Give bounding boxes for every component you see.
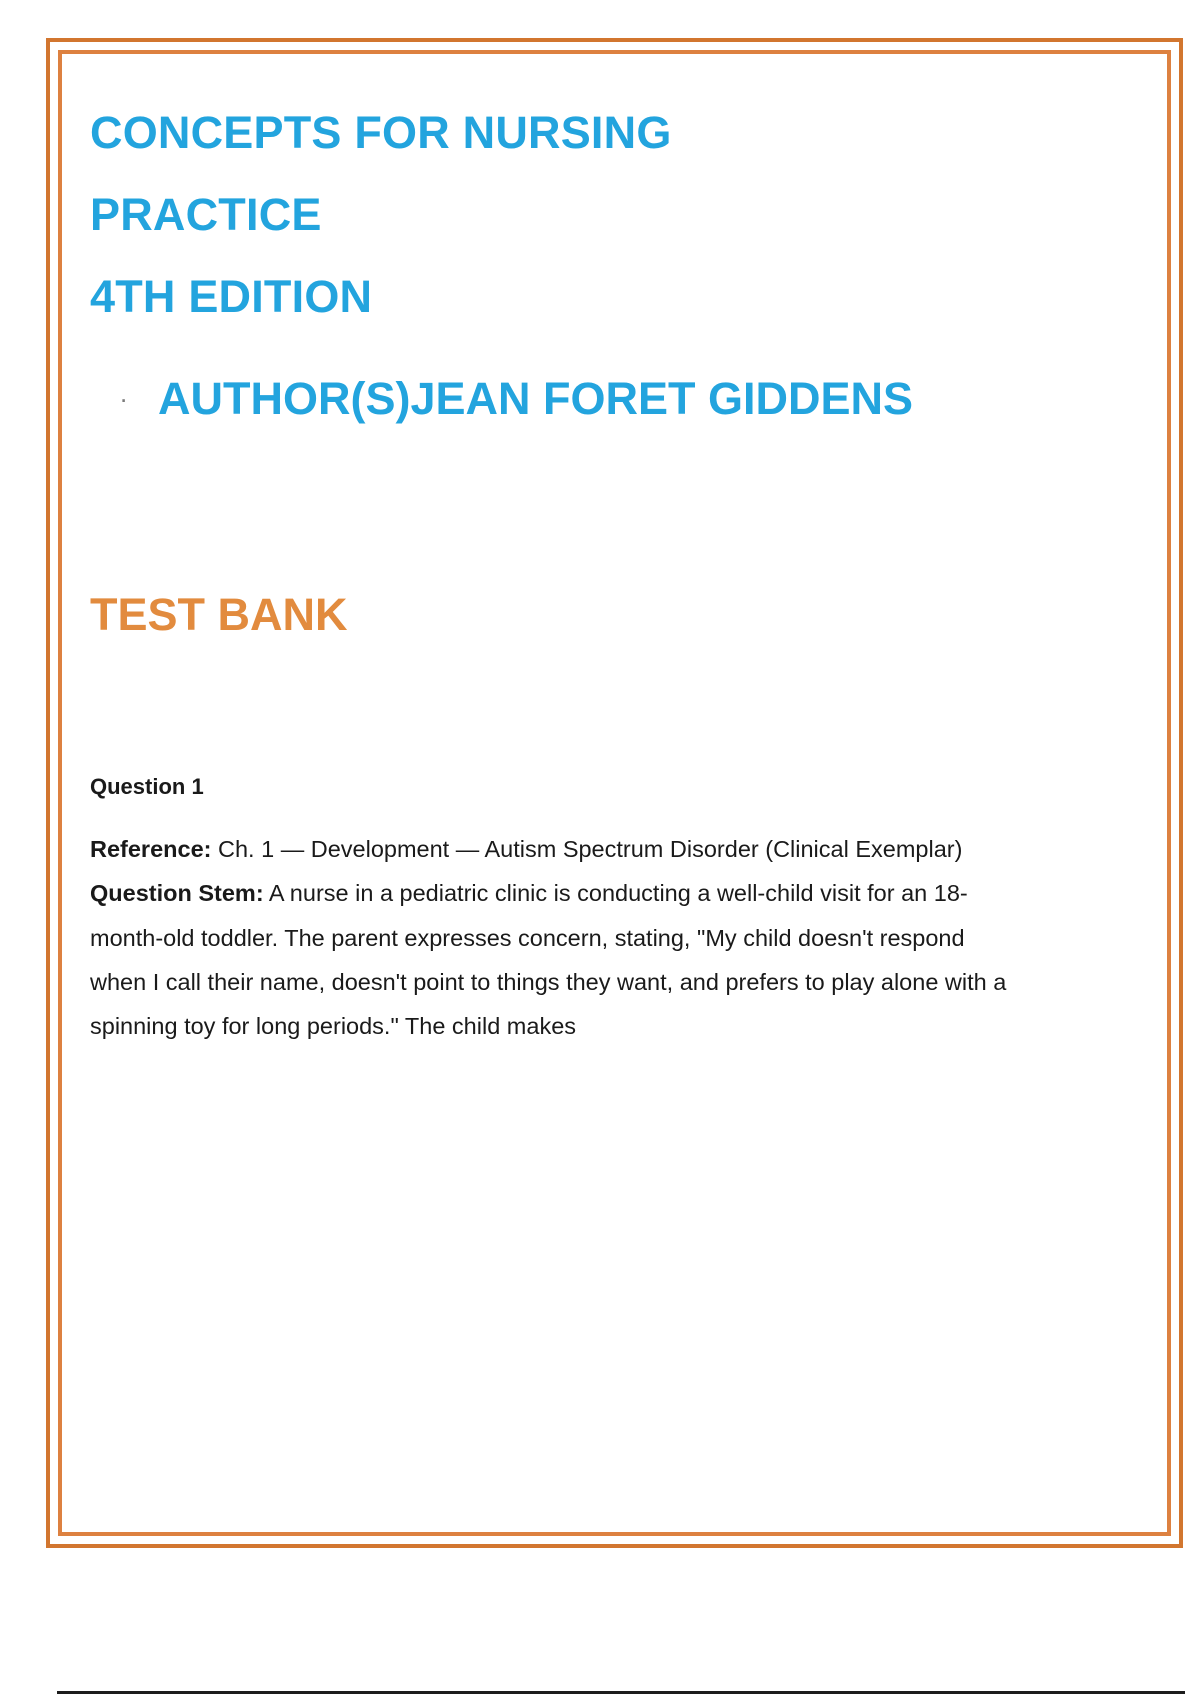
question-reference: Reference: Ch. 1 — Development — Autism … — [90, 827, 1022, 871]
page-bottom-rule — [57, 1691, 1185, 1694]
bullet-point-icon: . — [120, 358, 158, 407]
author-label: AUTHOR(S)JEAN FORET GIDDENS — [158, 358, 1022, 440]
title-line-3: 4TH EDITION — [90, 256, 1022, 338]
question-block: Question 1 Reference: Ch. 1 — Developmen… — [90, 772, 1022, 1049]
document-title: CONCEPTS FOR NURSING PRACTICE 4TH EDITIO… — [90, 92, 1022, 338]
reference-text: Ch. 1 — Development — Autism Spectrum Di… — [211, 836, 962, 862]
title-line-2: PRACTICE — [90, 174, 1022, 256]
document-content: CONCEPTS FOR NURSING PRACTICE 4TH EDITIO… — [90, 92, 1022, 1048]
stem-label: Question Stem: — [90, 880, 264, 906]
author-list-item: . AUTHOR(S)JEAN FORET GIDDENS — [90, 358, 1022, 440]
test-bank-heading: TEST BANK — [90, 588, 1022, 642]
title-line-1: CONCEPTS FOR NURSING — [90, 92, 1022, 174]
reference-label: Reference: — [90, 836, 211, 862]
question-number: Question 1 — [90, 772, 1022, 802]
question-stem: Question Stem: A nurse in a pediatric cl… — [90, 871, 1022, 1048]
